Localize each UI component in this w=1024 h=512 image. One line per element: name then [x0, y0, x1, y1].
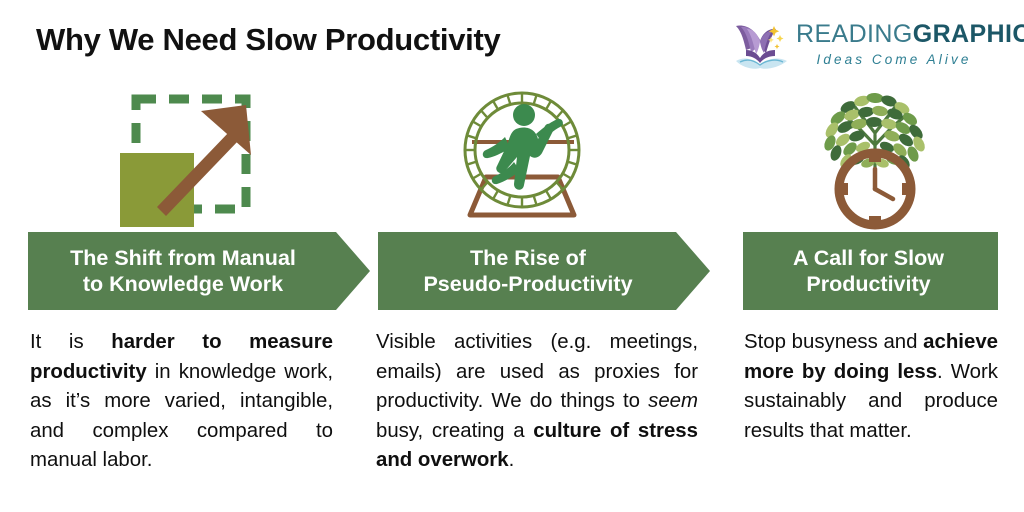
banner-line-2: to Knowledge Work: [83, 272, 283, 296]
logo-wordmark: READINGGRAPHICS Ideas Come Alive: [796, 22, 1024, 67]
open-book-with-stars-icon: [730, 20, 792, 72]
banner-label: The Shift from Manual to Knowledge Work: [64, 245, 334, 297]
hamster-wheel-runner-icon: [450, 85, 600, 230]
banner-line-1: The Rise of: [470, 246, 586, 270]
infographic-page: Why We Need Slow Productivity READINGGRA…: [0, 0, 1024, 512]
banner-row: The Shift from Manual to Knowledge Work …: [0, 232, 1024, 312]
banner-shift-from-manual-to-knowledge-work[interactable]: The Shift from Manual to Knowledge Work: [28, 232, 370, 310]
body-text-rise-of-pseudo-productivity: Visible activities (e.g. meetings, email…: [376, 328, 698, 476]
logo-word-row: READINGGRAPHICS: [796, 22, 1024, 47]
banner-line-1: The Shift from Manual: [70, 246, 296, 270]
banner-rise-of-pseudo-productivity[interactable]: The Rise of Pseudo-Productivity: [378, 232, 710, 310]
page-title: Why We Need Slow Productivity: [36, 22, 500, 58]
logo-word-reading: READING: [796, 20, 913, 48]
body-column-row: It is harder to measure productivity in …: [0, 328, 1024, 498]
banner-label: A Call for Slow Productivity: [787, 245, 954, 297]
logo-word-graphics: GRAPHICS: [913, 20, 1024, 48]
growth-arrow-dashed-square-icon: [118, 85, 268, 230]
icon-row: [0, 85, 1024, 230]
banner-a-call-for-slow-productivity[interactable]: A Call for Slow Productivity: [743, 232, 998, 310]
body-text-shift-from-manual-to-knowledge-work: It is harder to measure productivity in …: [30, 328, 333, 476]
banner-label: The Rise of Pseudo-Productivity: [417, 245, 670, 297]
tree-growing-from-clock-icon: [800, 85, 950, 230]
banner-line-2: Productivity: [806, 272, 930, 296]
banner-line-1: A Call for Slow: [793, 246, 944, 270]
logo-tagline: Ideas Come Alive: [796, 52, 992, 67]
body-text-a-call-for-slow-productivity: Stop busyness and achieve more by doing …: [744, 328, 998, 446]
brand-logo: READINGGRAPHICS Ideas Come Alive: [730, 16, 998, 78]
banner-line-2: Pseudo-Productivity: [423, 272, 632, 296]
